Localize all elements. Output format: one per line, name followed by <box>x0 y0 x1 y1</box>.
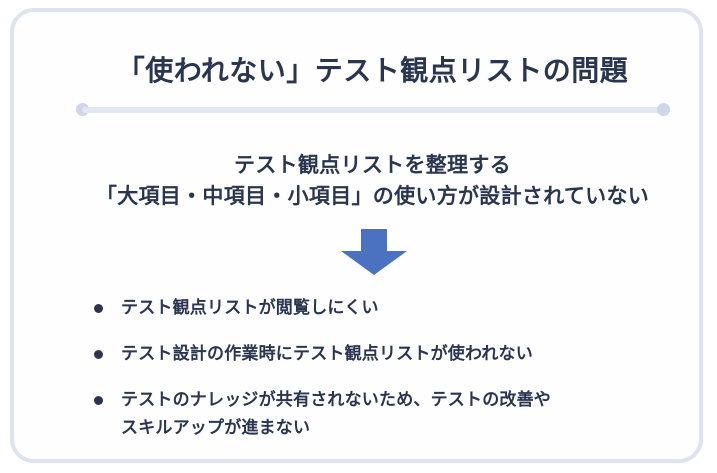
list-item: テスト観点リストが閲覧しにくい <box>92 294 692 322</box>
subtitle-line-2: 「大項目・中項目・小項目」の使い方が設計されていない <box>14 181 717 212</box>
divider-line <box>82 107 664 113</box>
list-item-line: スキルアップが進まない <box>121 414 692 442</box>
bullet-dot-icon <box>94 304 103 313</box>
bullet-dot-icon <box>94 396 103 405</box>
title-divider <box>76 103 670 116</box>
subtitle-line-1: テスト観点リストを整理する <box>14 150 717 181</box>
subtitle-block: テスト観点リストを整理する 「大項目・中項目・小項目」の使い方が設計されていない <box>14 150 717 212</box>
list-item: テストのナレッジが共有されないため、テストの改善や スキルアップが進まない <box>92 386 692 442</box>
problem-list: テスト観点リストが閲覧しにくい テスト設計の作業時にテスト観点リストが使われない… <box>92 294 692 442</box>
divider-dot-right-icon <box>657 103 670 116</box>
content-card: 「使われない」テスト観点リストの問題 テスト観点リストを整理する 「大項目・中項… <box>10 8 703 463</box>
list-item: テスト設計の作業時にテスト観点リストが使われない <box>92 340 692 368</box>
bullet-dot-icon <box>94 350 103 359</box>
down-arrow-icon <box>341 229 407 275</box>
list-item-line: テストのナレッジが共有されないため、テストの改善や <box>121 386 692 414</box>
slide-title: 「使われない」テスト観点リストの問題 <box>14 54 717 88</box>
slide-root: 「使われない」テスト観点リストの問題 テスト観点リストを整理する 「大項目・中項… <box>0 0 717 473</box>
list-item-line: テスト観点リストが閲覧しにくい <box>121 294 692 322</box>
list-item-line: テスト設計の作業時にテスト観点リストが使われない <box>121 340 692 368</box>
